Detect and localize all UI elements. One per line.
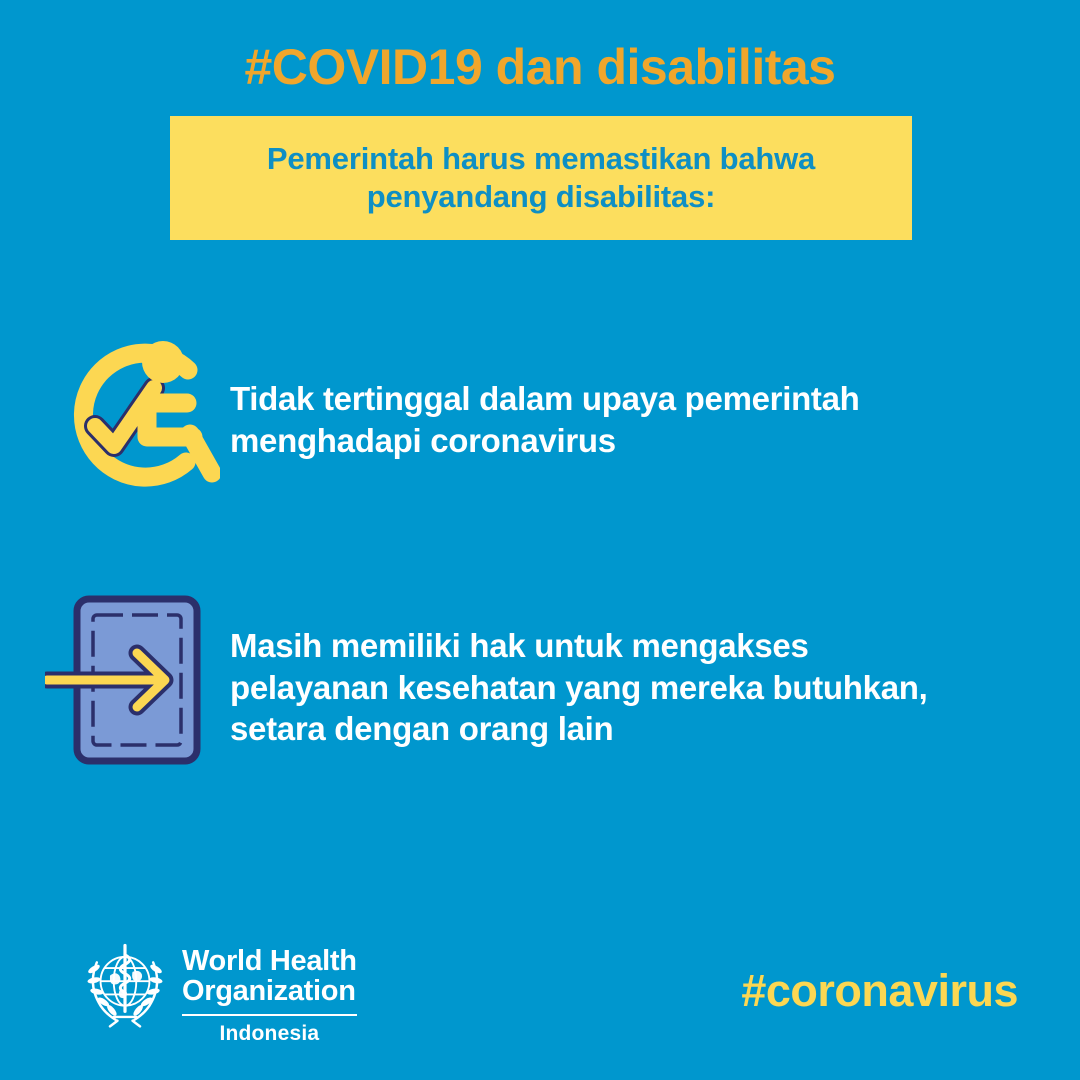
wheelchair-accessibility-check-icon (40, 340, 230, 495)
door-entry-arrow-icon (40, 585, 230, 775)
who-name-line2: Organization (182, 976, 357, 1006)
poster-canvas: #COVID19 dan disabilitas Pemerintah haru… (0, 0, 1080, 1080)
logo-divider (182, 1014, 357, 1016)
page-title: #COVID19 dan disabilitas (0, 40, 1080, 94)
who-logo: World Health Organization Indonesia (78, 938, 357, 1046)
who-wordmark: World Health Organization Indonesia (182, 938, 357, 1046)
hashtag-coronavirus: #coronavirus (741, 965, 1018, 1017)
subtitle-text: Pemerintah harus memastikan bahwa penyan… (170, 140, 912, 216)
subtitle-banner: Pemerintah harus memastikan bahwa penyan… (170, 116, 912, 240)
list-item-label: Masih memiliki hak untuk mengakses pelay… (230, 585, 927, 750)
list-item: Tidak tertinggal dalam upaya pemerintah … (40, 340, 860, 495)
who-name-line1: World Health (182, 946, 357, 976)
who-country-label: Indonesia (182, 1022, 357, 1046)
list-item: Masih memiliki hak untuk mengakses pelay… (40, 585, 927, 775)
list-item-label: Tidak tertinggal dalam upaya pemerintah … (230, 340, 860, 461)
who-emblem-icon (78, 938, 172, 1037)
